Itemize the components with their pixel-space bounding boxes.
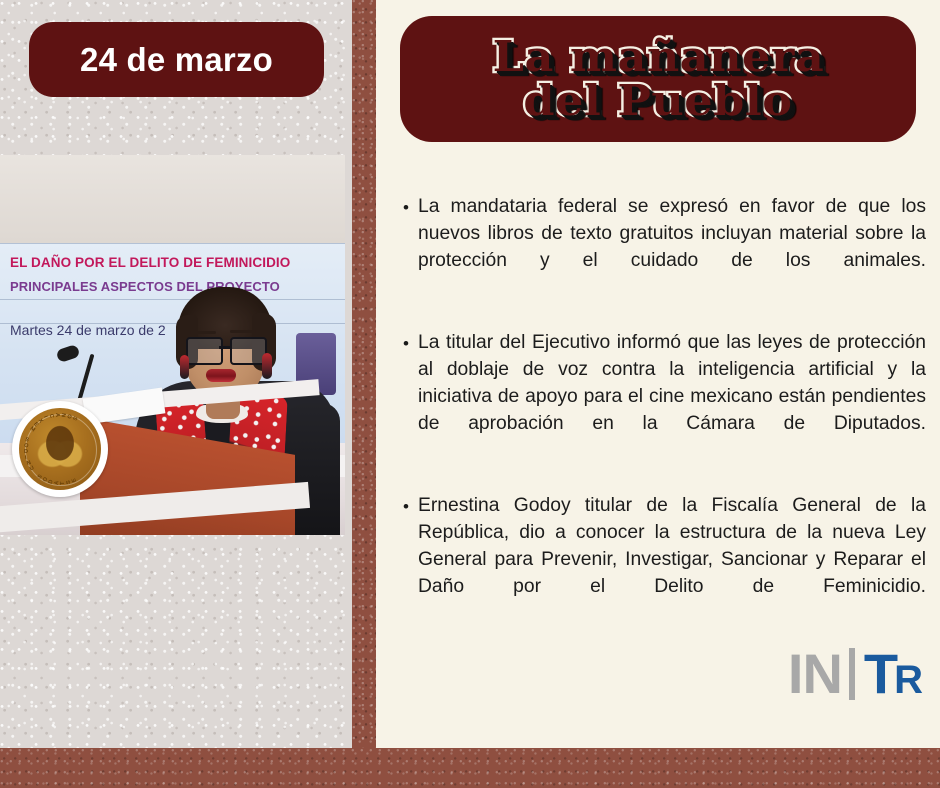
bottom-band [0, 748, 940, 788]
glasses-lens-left [186, 337, 223, 365]
title-banner: La mañanera del Pueblo [400, 16, 916, 142]
vertical-divider [352, 0, 376, 788]
speaker-glasses [184, 337, 266, 361]
speaker-earring-right [262, 353, 272, 379]
bullet-text: La titular del Ejecutivo informó que las… [418, 329, 926, 465]
slide-date-text: Martes 24 de marzo de 2 [10, 322, 166, 338]
speaker-eyebrow-right [230, 330, 256, 333]
list-item: • La mandataria federal se expresó en fa… [394, 193, 926, 302]
bullet-text: Ernestina Godoy titular de la Fiscalía G… [418, 492, 926, 628]
left-panel: 24 de marzo EL DAÑO POR EL DELITO DE FEM… [0, 0, 352, 748]
list-item: • Ernestina Godoy titular de la Fiscalía… [394, 492, 926, 628]
speaker-eyebrow-left [190, 331, 216, 334]
poster-root: 24 de marzo EL DAÑO POR EL DELITO DE FEM… [0, 0, 940, 788]
press-conference-photo: EL DAÑO POR EL DELITO DE FEMINICIDIO PRI… [0, 155, 345, 535]
national-seal: ESTADOS UNIDOS MEXICANOS [12, 401, 108, 497]
right-panel: La mañanera del Pueblo • La mandataria f… [376, 0, 940, 748]
brand-logo: IN T R [788, 646, 922, 702]
title-line-1: La mañanera [492, 35, 824, 79]
national-seal-legend: ESTADOS UNIDOS MEXICANOS [12, 401, 108, 497]
title-line-2: del Pueblo [523, 79, 792, 123]
bullet-list: • La mandataria federal se expresó en fa… [394, 193, 926, 655]
logo-divider-bar [849, 648, 855, 700]
date-badge-label: 24 de marzo [80, 41, 273, 79]
list-item: • La titular del Ejecutivo informó que l… [394, 329, 926, 465]
photo-back-wall [0, 155, 345, 243]
logo-text-t: T [864, 646, 897, 702]
speaker-earring-left [180, 355, 189, 379]
date-badge: 24 de marzo [29, 22, 324, 97]
logo-text-r: R [894, 660, 922, 700]
speaker-mouth [206, 369, 236, 382]
bullet-marker-icon: • [394, 193, 418, 302]
slide-title-text: EL DAÑO POR EL DELITO DE FEMINICIDIO [10, 255, 290, 270]
bullet-marker-icon: • [394, 329, 418, 465]
logo-text-in: IN [788, 646, 842, 702]
bullet-marker-icon: • [394, 492, 418, 628]
bullet-text: La mandataria federal se expresó en favo… [418, 193, 926, 302]
